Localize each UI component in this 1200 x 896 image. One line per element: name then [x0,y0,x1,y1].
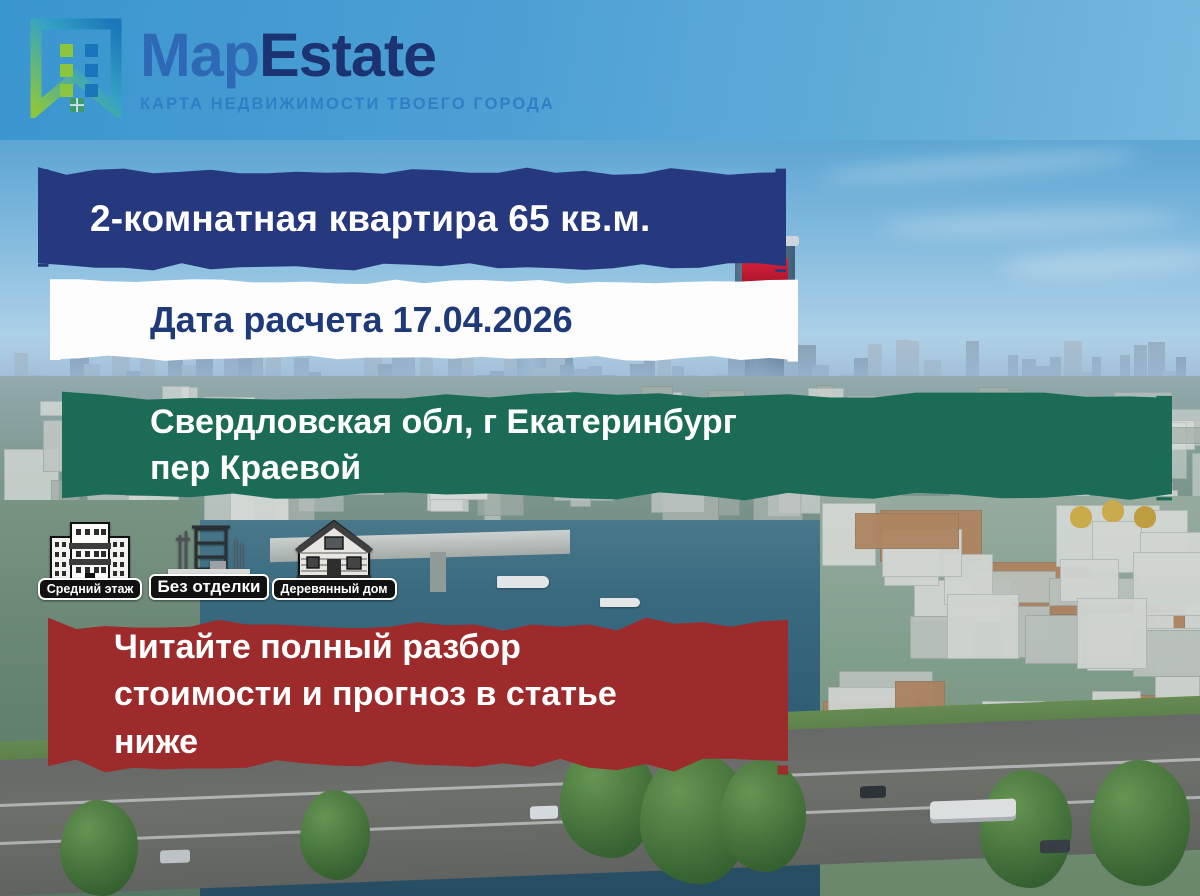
apartment-building-icon [43,517,137,583]
cta-line-3: ниже [114,719,617,767]
feature-no-finishing[interactable]: Без отделки [150,508,268,600]
address-text: Свердловская обл, г Екатеринбург пер Кра… [62,400,737,491]
real-estate-promo-poster: MapEstate КАРТА НЕДВИЖИМОСТИ ТВОЕГО ГОРО… [0,0,1200,896]
brand-tagline: КАРТА НЕДВИЖИМОСТИ ТВОЕГО ГОРОДА [140,95,555,114]
cta-line-1: Читайте полный разбор [114,624,617,672]
address-line-2: пер Краевой [150,446,737,492]
calculation-date-banner: Дата расчета 17.04.2026 [50,272,798,368]
wooden-house-icon [287,517,381,583]
feature-label: Деревянный дом [272,578,397,600]
cta-banner[interactable]: Читайте полный разбор стоимости и прогно… [48,604,788,786]
brand-name-part1: Map [140,21,259,89]
bus [930,798,1016,823]
boat [497,576,549,588]
header-bar: MapEstate КАРТА НЕДВИЖИМОСТИ ТВОЕГО ГОРО… [0,0,1200,140]
feature-label: Средний этаж [38,578,143,600]
cta-text: Читайте полный разбор стоимости и прогно… [48,624,617,767]
address-banner: Свердловская обл, г Екатеринбург пер Кра… [62,382,1172,510]
feature-label: Без отделки [149,574,270,600]
construction-frame-icon [162,513,256,579]
brand-name-part2: Estate [259,21,436,89]
brand-name: MapEstate [140,25,555,86]
brand-logo[interactable]: MapEstate КАРТА НЕДВИЖИМОСТИ ТВОЕГО ГОРО… [30,18,555,118]
property-title-text: 2-комнатная квартира 65 кв.м. [38,198,650,240]
map-bookmark-building-icon [30,18,122,118]
property-features: Средний этаж [38,508,368,600]
calculation-date-text: Дата расчета 17.04.2026 [50,299,573,341]
property-title-banner: 2-комнатная квартира 65 кв.м. [38,158,786,280]
address-line-1: Свердловская обл, г Екатеринбург [150,400,737,446]
feature-wooden-house[interactable]: Деревянный дом [276,508,392,600]
cta-line-2: стоимости и прогноз в статье [114,671,617,719]
feature-middle-floor[interactable]: Средний этаж [38,508,142,600]
